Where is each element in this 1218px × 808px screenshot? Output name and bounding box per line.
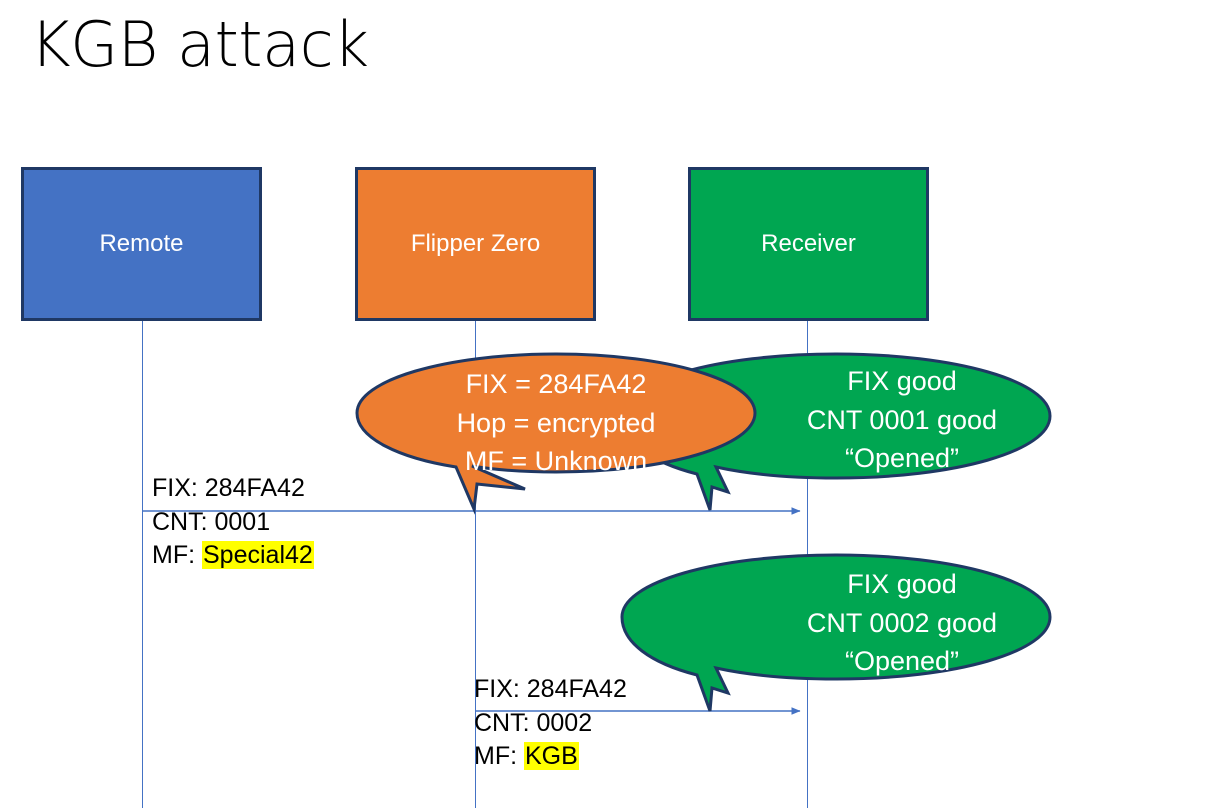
message-2-line-cnt: CNT: 0002: [474, 707, 627, 741]
slide-canvas: KGB attack Remote Flipper Zero Receiver …: [0, 0, 1218, 808]
callout-recv1-line1: FIX good: [752, 362, 1052, 401]
message-1-mf-prefix: MF:: [152, 541, 202, 569]
callout-flipper-capture[interactable]: FIX = 284FA42 Hop = encrypted MF = Unkno…: [355, 352, 757, 512]
page-title: KGB attack: [30, 8, 369, 81]
actor-box-remote[interactable]: Remote: [21, 167, 262, 321]
callout-recv2-line3: “Opened”: [752, 642, 1052, 681]
message-label-1: FIX: 284FA42 CNT: 0001 MF: Special42: [152, 472, 314, 573]
callout-recv1-line3: “Opened”: [752, 439, 1052, 478]
message-2-mf-value: KGB: [524, 742, 579, 770]
message-1-mf-value: Special42: [202, 541, 314, 569]
actor-label-flipper: Flipper Zero: [411, 230, 540, 258]
actor-box-receiver[interactable]: Receiver: [688, 167, 929, 321]
message-1-line-mf: MF: Special42: [152, 539, 314, 573]
callout-receiver-second-text: FIX good CNT 0002 good “Opened”: [620, 553, 1052, 681]
callout-flipper-line3: MF = Unknown: [355, 442, 757, 481]
message-2-mf-prefix: MF:: [474, 742, 524, 770]
actor-box-flipper[interactable]: Flipper Zero: [355, 167, 596, 321]
message-label-2: FIX: 284FA42 CNT: 0002 MF: KGB: [474, 673, 627, 774]
lifeline-remote: [142, 321, 143, 808]
callout-recv1-line2: CNT 0001 good: [752, 401, 1052, 440]
callout-receiver-second[interactable]: FIX good CNT 0002 good “Opened”: [620, 553, 1052, 715]
callout-recv2-line1: FIX good: [752, 565, 1052, 604]
callout-flipper-capture-text: FIX = 284FA42 Hop = encrypted MF = Unkno…: [355, 352, 757, 481]
callout-flipper-line2: Hop = encrypted: [355, 404, 757, 443]
message-2-line-fix: FIX: 284FA42: [474, 673, 627, 707]
message-1-line-fix: FIX: 284FA42: [152, 472, 314, 506]
message-1-line-cnt: CNT: 0001: [152, 506, 314, 540]
actor-label-remote: Remote: [99, 230, 183, 258]
message-2-line-mf: MF: KGB: [474, 740, 627, 774]
callout-recv2-line2: CNT 0002 good: [752, 604, 1052, 643]
callout-flipper-line1: FIX = 284FA42: [355, 365, 757, 404]
actor-label-receiver: Receiver: [761, 230, 856, 258]
